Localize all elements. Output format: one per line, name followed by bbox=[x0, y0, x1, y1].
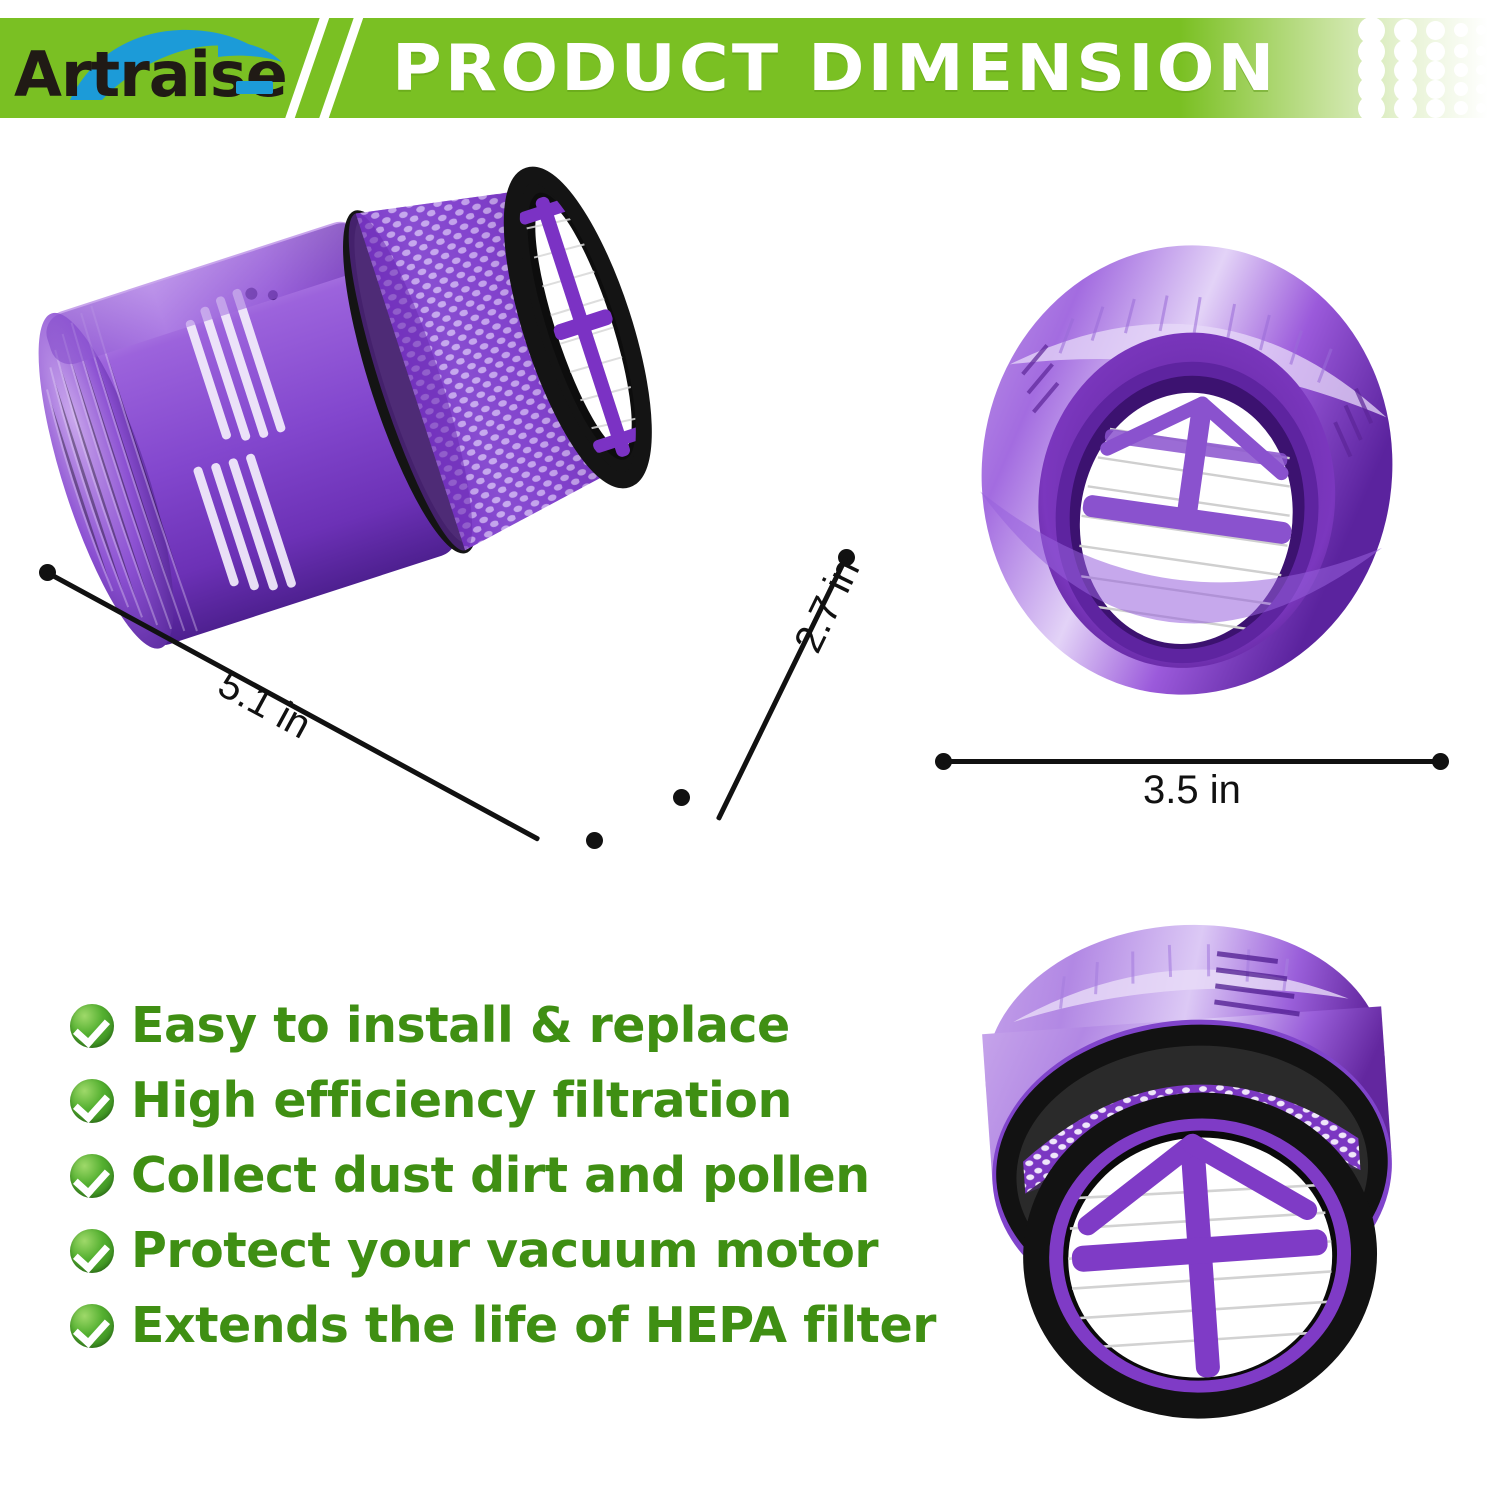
dimension-endpoint-dot bbox=[673, 789, 690, 806]
check-circle-icon bbox=[70, 1079, 114, 1123]
feature-list: Easy to install & replace High efficienc… bbox=[70, 990, 950, 1365]
feature-item: Extends the life of HEPA filter bbox=[70, 1290, 950, 1361]
check-circle-icon bbox=[70, 1229, 114, 1273]
logo-accent-bar bbox=[236, 81, 273, 94]
product-image-end-view bbox=[935, 140, 1440, 740]
brand-wordmark: Artraise bbox=[14, 44, 287, 106]
product-image-angled-view bbox=[930, 820, 1450, 1460]
feature-item: Easy to install & replace bbox=[70, 990, 950, 1061]
check-circle-icon bbox=[70, 1304, 114, 1348]
feature-label: High efficiency filtration bbox=[131, 1073, 792, 1129]
dimension-line bbox=[943, 759, 1440, 764]
feature-label: Easy to install & replace bbox=[131, 998, 790, 1054]
feature-item: High efficiency filtration bbox=[70, 1065, 950, 1136]
dimension-endpoint-dot bbox=[586, 832, 603, 849]
brand-logo: Artraise bbox=[14, 24, 314, 112]
header-banner: Artraise PRODUCT DIMENSION bbox=[0, 0, 1488, 120]
header-halftone-dots bbox=[1355, 18, 1488, 118]
dimension-label-depth: 2.7 in bbox=[786, 552, 869, 660]
feature-item: Collect dust dirt and pollen bbox=[70, 1140, 950, 1211]
feature-label: Protect your vacuum motor bbox=[131, 1223, 878, 1279]
check-circle-icon bbox=[70, 1004, 114, 1048]
check-circle-icon bbox=[70, 1154, 114, 1198]
dimension-label-diameter: 3.5 in bbox=[1143, 768, 1241, 813]
page-title: PRODUCT DIMENSION bbox=[392, 28, 1304, 110]
feature-label: Collect dust dirt and pollen bbox=[131, 1148, 870, 1204]
feature-item: Protect your vacuum motor bbox=[70, 1215, 950, 1286]
product-image-main-filter bbox=[30, 140, 750, 740]
dimension-endpoint-dot bbox=[1432, 753, 1449, 770]
feature-label: Extends the life of HEPA filter bbox=[131, 1298, 936, 1354]
